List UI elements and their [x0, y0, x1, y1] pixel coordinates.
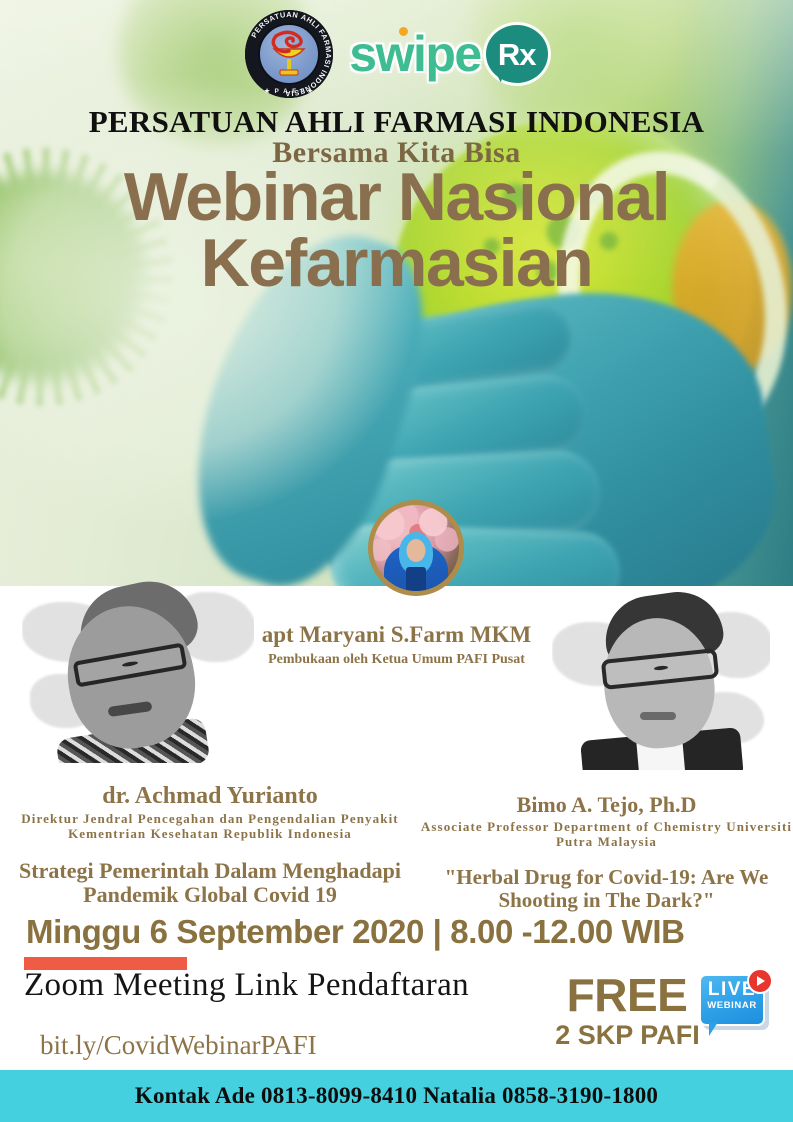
registration-link[interactable]: bit.ly/CovidWebinarPAFI	[40, 1030, 317, 1061]
webinar-poster: PERSATUAN AHLI FARMASI INDONESIA ★ P A F…	[0, 0, 793, 1122]
play-button-icon	[747, 968, 773, 994]
left-speaker-name: dr. Achmad Yurianto	[0, 783, 420, 810]
event-date-time: Minggu 6 September 2020 | 8.00 -12.00 WI…	[26, 913, 685, 951]
live-webinar-badge: LIVE WEBINAR	[697, 972, 773, 1042]
right-speaker-topic: "Herbal Drug for Covid-19: Are We Shooti…	[420, 866, 793, 911]
live-badge-secondary-label: WEBINAR	[697, 1000, 767, 1011]
pafi-logo: PERSATUAN AHLI FARMASI INDONESIA ★ P A F…	[245, 10, 333, 98]
credits-label: 2 SKP PAFI	[540, 1020, 715, 1051]
photo-left-speaker	[22, 578, 254, 763]
page-title-line-1: Webinar Nasional	[124, 159, 669, 235]
swiperx-wordmark-text: swipe	[349, 26, 480, 82]
pafi-logo-bottom-label-wrap: ★ P A F I ★	[245, 10, 333, 98]
avatar-face	[407, 539, 426, 562]
contact-footer-bar: Kontak Ade 0813-8099-8410 Natalia 0858-3…	[0, 1070, 793, 1122]
left-speaker-affiliation: Direktur Jendral Pencegahan dan Pengenda…	[0, 812, 420, 841]
organization-name: PERSATUAN AHLI FARMASI INDONESIA	[0, 104, 793, 140]
price-label: FREE	[552, 968, 702, 1022]
live-badge-tail	[709, 1022, 718, 1036]
swiperx-wordmark: swipe	[349, 29, 480, 79]
photo-right-speaker	[552, 592, 770, 770]
rx-label: Rx	[498, 39, 536, 70]
center-speaker-name: apt Maryani S.Farm MKM	[0, 622, 793, 648]
right-speaker-affiliation: Associate Professor Department of Chemis…	[420, 820, 793, 849]
event-platform-line: Zoom Meeting Link Pendaftaran	[24, 967, 469, 1004]
contact-text: Kontak Ade 0813-8099-8410 Natalia 0858-3…	[135, 1083, 658, 1109]
avatar-center-speaker	[368, 500, 464, 596]
avatar-collar	[406, 567, 426, 593]
left-speaker-topic: Strategi Pemerintah Dalam Menghadapi Pan…	[0, 859, 420, 907]
portrait-mouth	[640, 712, 676, 720]
center-speaker-role: Pembukaan oleh Ketua Umum PAFI Pusat	[0, 652, 793, 668]
page-title: Webinar Nasional Kefarmasian	[0, 165, 793, 297]
pafi-logo-bottom-label: ★ P A F I ★	[264, 87, 314, 98]
swiperx-logo: swipe Rx	[349, 25, 547, 83]
right-speaker-name: Bimo A. Tejo, Ph.D	[420, 792, 793, 818]
logo-row: PERSATUAN AHLI FARMASI INDONESIA ★ P A F…	[0, 8, 793, 100]
page-title-line-2: Kefarmasian	[0, 231, 793, 297]
rx-speech-bubble-icon: Rx	[486, 25, 548, 83]
swiperx-dot-icon	[399, 27, 408, 36]
